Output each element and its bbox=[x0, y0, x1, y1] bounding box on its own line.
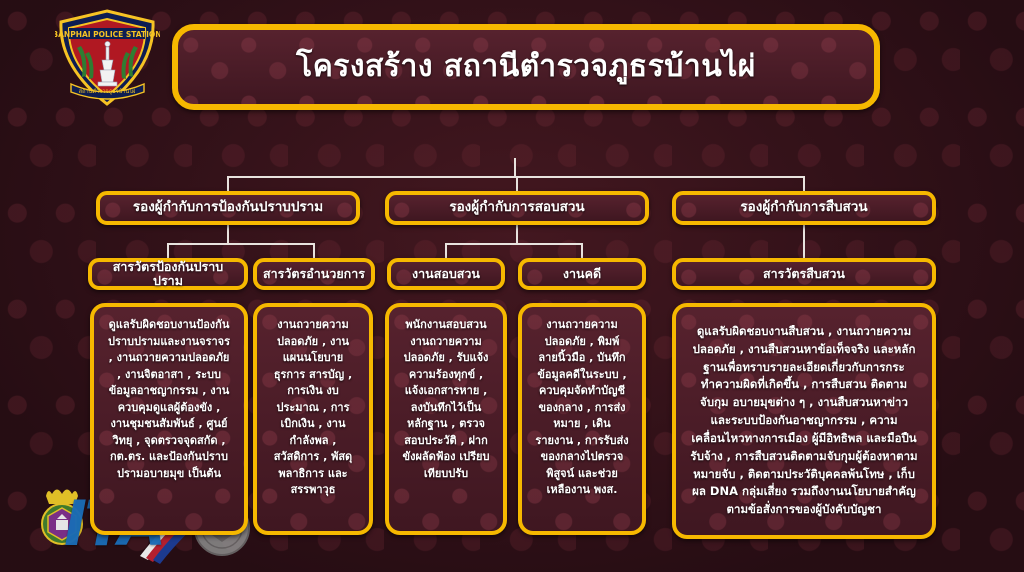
node-label: รองผู้กำกับการป้องกันปราบปราม bbox=[127, 200, 329, 216]
page-title-text: โครงสร้าง สถานีตำรวจภูธรบ้านไผ่ bbox=[290, 50, 762, 85]
connector-to-sv-prevention bbox=[167, 243, 169, 258]
detail-text: งานถวายความปลอดภัย , งานแผนนโยบาย ธุรการ… bbox=[264, 317, 362, 499]
connector-to-work-inquiry bbox=[445, 243, 447, 258]
node-work-inquiry[interactable]: งานสอบสวน bbox=[387, 258, 505, 290]
node-deputy-prevention[interactable]: รองผู้กำกับการป้องกันปราบปราม bbox=[96, 191, 360, 225]
node-label: รองผู้กำกับการสืบสวน bbox=[734, 200, 873, 216]
detail-text: ดูแลรับผิดชอบงานป้องกันปราบปรามและงานจรา… bbox=[101, 317, 237, 482]
node-label: รองผู้กำกับการสอบสวน bbox=[443, 200, 590, 216]
node-work-case[interactable]: งานคดี bbox=[518, 258, 646, 290]
node-label: งานคดี bbox=[557, 267, 607, 281]
page-title: โครงสร้าง สถานีตำรวจภูธรบ้านไผ่ bbox=[172, 24, 880, 110]
connector-to-sv-admin bbox=[313, 243, 315, 258]
detail-box-admin: งานถวายความปลอดภัย , งานแผนนโยบาย ธุรการ… bbox=[253, 303, 373, 535]
connector-chief-down bbox=[514, 158, 516, 176]
node-deputy-investigation[interactable]: รองผู้กำกับการสืบสวน bbox=[672, 191, 936, 225]
connector-dep-inquiry-down bbox=[516, 225, 518, 243]
connector-to-work-case bbox=[581, 243, 583, 258]
connector-to-dep-investigation bbox=[803, 176, 805, 191]
svg-text:BANPHAI POLICE STATION: BANPHAI POLICE STATION bbox=[55, 30, 160, 39]
banphai-police-badge-icon: BANPHAI POLICE STATION สถานีตำรวจภูธรบ้า… bbox=[55, 8, 160, 108]
detail-box-case: งานถวายความปลอดภัย , พิมพ์ลายนิ้วมือ , บ… bbox=[518, 303, 646, 535]
connector-to-dep-prevention bbox=[227, 176, 229, 191]
node-label: สารวัตรอำนวยการ bbox=[257, 267, 371, 281]
detail-text: ดูแลรับผิดชอบงานสืบสวน , งานถวายความปลอด… bbox=[683, 323, 925, 519]
node-label: สารวัตรป้องกันปราบปราม bbox=[92, 260, 244, 289]
connector-to-sv-investigation bbox=[803, 225, 805, 258]
connector-inquiry-bus bbox=[445, 243, 582, 245]
svg-text:สถานีตำรวจภูธรบ้านไผ่: สถานีตำรวจภูธรบ้านไผ่ bbox=[79, 88, 136, 95]
slide-canvas: BANPHAI POLICE STATION สถานีตำรวจภูธรบ้า… bbox=[0, 0, 1024, 572]
connector-dep-prevention-down bbox=[227, 225, 229, 243]
detail-text: งานถวายความปลอดภัย , พิมพ์ลายนิ้วมือ , บ… bbox=[529, 317, 635, 499]
connector-to-dep-inquiry bbox=[516, 176, 518, 191]
detail-box-inquiry: พนักงานสอบสวน งานถวายความปลอดภัย , รับแจ… bbox=[385, 303, 507, 535]
detail-box-prevention: ดูแลรับผิดชอบงานป้องกันปราบปรามและงานจรา… bbox=[90, 303, 248, 535]
node-deputy-inquiry[interactable]: รองผู้กำกับการสอบสวน bbox=[385, 191, 649, 225]
node-label: งานสอบสวน bbox=[406, 267, 486, 281]
detail-box-investigation: ดูแลรับผิดชอบงานสืบสวน , งานถวายความปลอด… bbox=[672, 303, 936, 539]
node-label: สารวัตรสืบสวน bbox=[757, 267, 851, 281]
connector-prevention-bus bbox=[167, 243, 314, 245]
node-inspector-admin[interactable]: สารวัตรอำนวยการ bbox=[253, 258, 375, 290]
node-inspector-investigation[interactable]: สารวัตรสืบสวน bbox=[672, 258, 936, 290]
node-inspector-prevention[interactable]: สารวัตรป้องกันปราบปราม bbox=[88, 258, 248, 290]
detail-text: พนักงานสอบสวน งานถวายความปลอดภัย , รับแจ… bbox=[396, 317, 496, 482]
